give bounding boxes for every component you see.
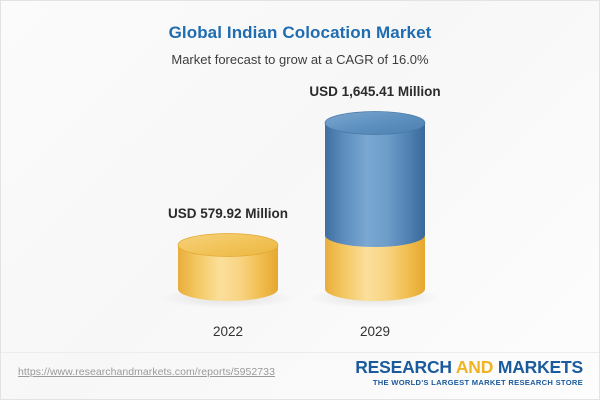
bar-value-label-2022: USD 579.92 Million [168,206,288,221]
chart-plot-area: USD 579.92 Million [1,1,600,353]
x-axis-label-2022: 2022 [213,324,243,339]
bar-group-2029: USD 1,645.41 Million [324,111,426,301]
logo-word-research: RESEARCH [355,357,452,377]
bar-cylinder-2022[interactable] [177,233,279,301]
logo-word-markets: MARKETS [498,357,583,377]
footer: https://www.researchandmarkets.com/repor… [1,352,599,399]
report-url-link[interactable]: https://www.researchandmarkets.com/repor… [18,366,275,378]
x-axis-label-2029: 2029 [360,324,390,339]
infographic-card: Global Indian Colocation Market Market f… [0,0,600,400]
bar-group-2022: USD 579.92 Million [177,233,279,301]
logo-word-and: AND [456,357,493,377]
logo-tagline: THE WORLD'S LARGEST MARKET RESEARCH STOR… [355,378,583,387]
logo-wordmark: RESEARCH AND MARKETS [355,358,583,376]
research-and-markets-logo[interactable]: RESEARCH AND MARKETS THE WORLD'S LARGEST… [355,358,583,387]
bar-value-label-2029: USD 1,645.41 Million [309,84,440,99]
bar-cylinder-2029[interactable] [324,111,426,301]
